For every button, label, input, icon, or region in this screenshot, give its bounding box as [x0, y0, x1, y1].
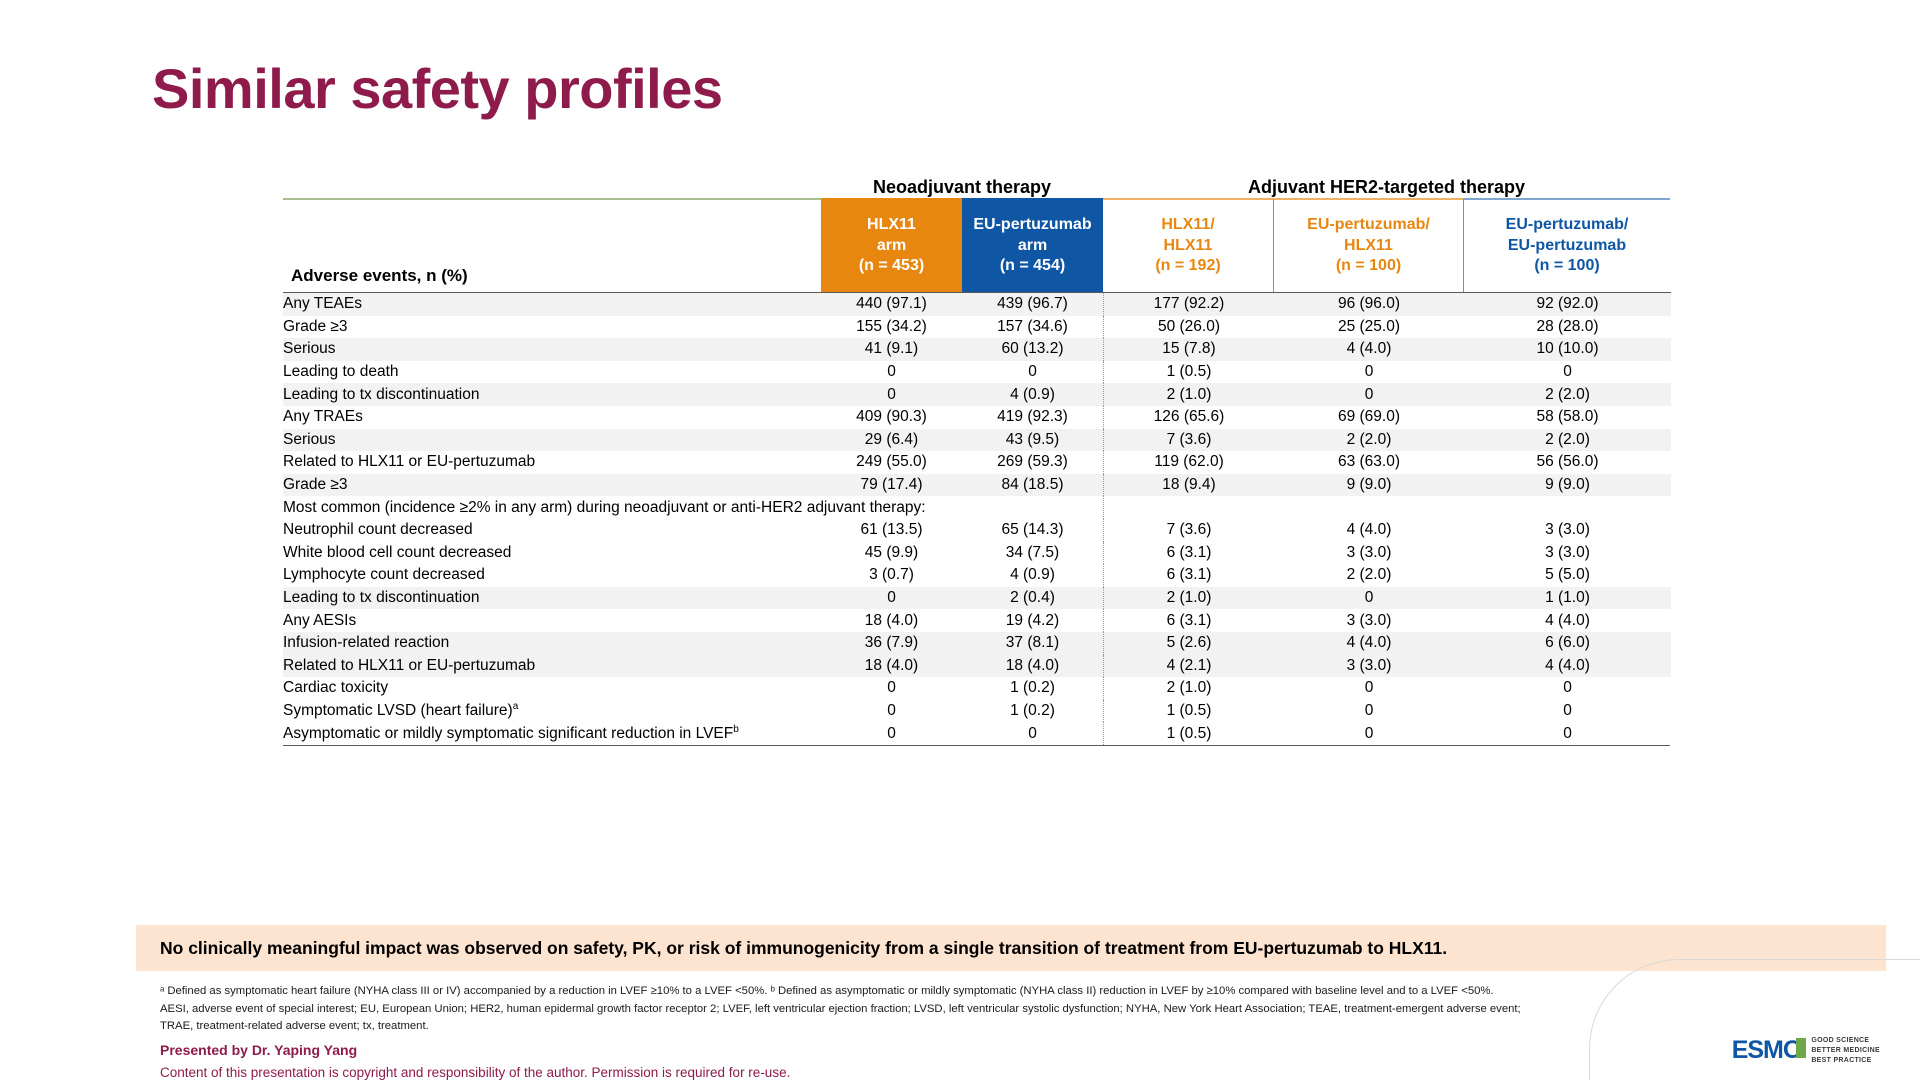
- table-row: Leading to tx discontinuation04 (0.9)2 (…: [283, 383, 1671, 406]
- table-column-header-row: Adverse events, n (%) HLX11 arm (n = 453…: [283, 198, 1670, 292]
- row-label: Leading to death: [283, 361, 821, 384]
- row-value: 439 (96.7): [962, 293, 1104, 316]
- column-header-eu-pertuzumab-eu-pertuzumab: EU-pertuzumab/ EU-pertuzumab (n = 100): [1463, 198, 1670, 292]
- row-value: 119 (62.0): [1104, 451, 1275, 474]
- row-value: 0: [1274, 587, 1464, 610]
- row-label: Leading to tx discontinuation: [283, 587, 821, 610]
- footnotes: ᵃ Defined as symptomatic heart failure (…: [160, 983, 1880, 1036]
- row-value: 15 (7.8): [1104, 338, 1275, 361]
- row-value: [962, 496, 1104, 519]
- row-value: 157 (34.6): [962, 316, 1104, 339]
- row-label: Asymptomatic or mildly symptomatic signi…: [283, 722, 821, 745]
- row-value: 6 (3.1): [1104, 542, 1275, 565]
- row-label: Any TRAEs: [283, 406, 821, 429]
- row-value: [1104, 496, 1275, 519]
- row-value: [1464, 496, 1671, 519]
- row-value: 45 (9.9): [821, 542, 962, 565]
- row-value: 0: [821, 722, 962, 745]
- row-value: 0: [1274, 383, 1464, 406]
- row-value: 2 (1.0): [1104, 587, 1275, 610]
- column-header-n: (n = 454): [1000, 256, 1065, 276]
- row-value: 0: [962, 722, 1104, 745]
- row-value: 19 (4.2): [962, 609, 1104, 632]
- row-value: 0: [821, 700, 962, 723]
- copyright-notice: Content of this presentation is copyrigh…: [160, 1065, 790, 1080]
- row-value: 3 (3.0): [1274, 655, 1464, 678]
- table-row: Any TRAEs409 (90.3)419 (92.3)126 (65.6)6…: [283, 406, 1671, 429]
- table-row: Grade ≥379 (17.4)84 (18.5)18 (9.4)9 (9.0…: [283, 474, 1671, 497]
- row-value: 0: [1274, 700, 1464, 723]
- row-value: 4 (4.0): [1274, 519, 1464, 542]
- row-value: 0: [1464, 677, 1671, 700]
- column-header-n: (n = 100): [1534, 256, 1599, 276]
- row-value: 18 (4.0): [962, 655, 1104, 678]
- column-header-line1: EU-pertuzumab/: [1506, 215, 1629, 235]
- row-value: 2 (2.0): [1464, 429, 1671, 452]
- row-value: 37 (8.1): [962, 632, 1104, 655]
- row-value: 3 (3.0): [1274, 609, 1464, 632]
- table-row: Serious29 (6.4)43 (9.5)7 (3.6)2 (2.0)2 (…: [283, 429, 1671, 452]
- column-header-line1: HLX11/: [1161, 215, 1214, 235]
- row-value: 4 (0.9): [962, 564, 1104, 587]
- row-value: 4 (4.0): [1274, 338, 1464, 361]
- row-value: 1 (0.5): [1104, 700, 1275, 723]
- row-value: 3 (3.0): [1274, 542, 1464, 565]
- row-label: Related to HLX11 or EU-pertuzumab: [283, 655, 821, 678]
- row-value: 0: [1464, 722, 1671, 745]
- column-header-line2: EU-pertuzumab: [1508, 236, 1626, 256]
- table-row: Serious41 (9.1)60 (13.2)15 (7.8)4 (4.0)1…: [283, 338, 1671, 361]
- row-label: Serious: [283, 338, 821, 361]
- row-value: 10 (10.0): [1464, 338, 1671, 361]
- table-row: Related to HLX11 or EU-pertuzumab18 (4.0…: [283, 655, 1671, 678]
- safety-data-table: Any TEAEs440 (97.1)439 (96.7)177 (92.2)9…: [283, 292, 1671, 745]
- row-value: 0: [821, 587, 962, 610]
- row-value: 63 (63.0): [1274, 451, 1464, 474]
- esmo-logo: ESMO GOOD SCIENCE BETTER MEDICINE BEST P…: [1732, 1036, 1880, 1066]
- page-title: Similar safety profiles: [152, 56, 723, 121]
- adverse-events-label: Adverse events, n (%): [291, 266, 468, 286]
- row-value: [1274, 496, 1464, 519]
- table-group-header-row: Neoadjuvant therapy Adjuvant HER2-target…: [283, 172, 1670, 198]
- row-value: 0: [962, 361, 1104, 384]
- row-value: 2 (1.0): [1104, 383, 1275, 406]
- table-row: Grade ≥3155 (34.2)157 (34.6)50 (26.0)25 …: [283, 316, 1671, 339]
- row-value: 1 (0.2): [962, 700, 1104, 723]
- row-value: 0: [821, 383, 962, 406]
- presenter-credit: Presented by Dr. Yaping Yang: [160, 1042, 357, 1058]
- table-row: Leading to death001 (0.5)00: [283, 361, 1671, 384]
- row-value: 1 (0.2): [962, 677, 1104, 700]
- row-value: 3 (3.0): [1464, 542, 1671, 565]
- group-header-adjuvant: Adjuvant HER2-targeted therapy: [1103, 177, 1670, 198]
- column-header-n: (n = 100): [1336, 256, 1401, 276]
- column-header-line2: arm: [1018, 236, 1047, 256]
- row-value: 2 (2.0): [1274, 429, 1464, 452]
- row-value: 18 (4.0): [821, 655, 962, 678]
- row-value: 58 (58.0): [1464, 406, 1671, 429]
- row-value: 1 (1.0): [1464, 587, 1671, 610]
- row-label: Grade ≥3: [283, 474, 821, 497]
- row-value: 6 (3.1): [1104, 564, 1275, 587]
- row-label: Symptomatic LVSD (heart failure)a: [283, 700, 821, 723]
- tagline-line-1: GOOD SCIENCE: [1811, 1036, 1880, 1046]
- esmo-tagline: GOOD SCIENCE BETTER MEDICINE BEST PRACTI…: [1811, 1036, 1880, 1066]
- row-value: 0: [1274, 677, 1464, 700]
- row-value: 9 (9.0): [1274, 474, 1464, 497]
- row-value: 0: [1274, 361, 1464, 384]
- row-value: 0: [1464, 700, 1671, 723]
- column-header-line1: EU-pertuzumab: [973, 215, 1091, 235]
- row-value: 269 (59.3): [962, 451, 1104, 474]
- column-header-n: (n = 453): [859, 256, 924, 276]
- row-label: Leading to tx discontinuation: [283, 383, 821, 406]
- tagline-line-2: BETTER MEDICINE: [1811, 1046, 1880, 1056]
- table-row: Any TEAEs440 (97.1)439 (96.7)177 (92.2)9…: [283, 293, 1671, 316]
- conclusion-banner: No clinically meaningful impact was obse…: [136, 925, 1886, 971]
- column-header-hlx11-arm: HLX11 arm (n = 453): [821, 198, 962, 292]
- row-value: 0: [821, 677, 962, 700]
- row-value: 34 (7.5): [962, 542, 1104, 565]
- table-row: Related to HLX11 or EU-pertuzumab249 (55…: [283, 451, 1671, 474]
- row-value: 249 (55.0): [821, 451, 962, 474]
- row-label: Grade ≥3: [283, 316, 821, 339]
- column-header-line2: arm: [877, 236, 906, 256]
- row-value: 69 (69.0): [1274, 406, 1464, 429]
- row-value: 440 (97.1): [821, 293, 962, 316]
- row-value: 3 (3.0): [1464, 519, 1671, 542]
- table-row: Asymptomatic or mildly symptomatic signi…: [283, 722, 1671, 745]
- table-row: Symptomatic LVSD (heart failure)a01 (0.2…: [283, 700, 1671, 723]
- column-header-line1: HLX11: [867, 215, 916, 235]
- table-row: Lymphocyte count decreased3 (0.7)4 (0.9)…: [283, 564, 1671, 587]
- row-value: 1 (0.5): [1104, 722, 1275, 745]
- table-row: Neutrophil count decreased61 (13.5)65 (1…: [283, 519, 1671, 542]
- footnote-abbreviations-1: AESI, adverse event of special interest;…: [160, 1001, 1880, 1019]
- row-value: 29 (6.4): [821, 429, 962, 452]
- table-row: Cardiac toxicity01 (0.2)2 (1.0)00: [283, 677, 1671, 700]
- safety-table-body: Any TEAEs440 (97.1)439 (96.7)177 (92.2)9…: [283, 293, 1671, 745]
- row-value: 126 (65.6): [1104, 406, 1275, 429]
- conclusion-text: No clinically meaningful impact was obse…: [136, 938, 1447, 959]
- row-value: 1 (0.5): [1104, 361, 1275, 384]
- footnote-definitions: ᵃ Defined as symptomatic heart failure (…: [160, 983, 1880, 1001]
- esmo-wordmark: ESMO: [1732, 1036, 1805, 1065]
- footnote-marker: b: [733, 724, 739, 735]
- row-value: 61 (13.5): [821, 519, 962, 542]
- row-value: 4 (0.9): [962, 383, 1104, 406]
- table-row: Infusion-related reaction36 (7.9)37 (8.1…: [283, 632, 1671, 655]
- row-value: 43 (9.5): [962, 429, 1104, 452]
- row-value: 4 (4.0): [1464, 655, 1671, 678]
- row-value: 79 (17.4): [821, 474, 962, 497]
- column-header-eu-pertuzumab-hlx11: EU-pertuzumab/ HLX11 (n = 100): [1273, 198, 1463, 292]
- row-value: 50 (26.0): [1104, 316, 1275, 339]
- row-value: 25 (25.0): [1274, 316, 1464, 339]
- row-value: 18 (4.0): [821, 609, 962, 632]
- column-header-n: (n = 192): [1155, 256, 1220, 276]
- row-label: Any AESIs: [283, 609, 821, 632]
- column-header-eu-pertuzumab-arm: EU-pertuzumab arm (n = 454): [962, 198, 1103, 292]
- row-label: White blood cell count decreased: [283, 542, 821, 565]
- row-label: Infusion-related reaction: [283, 632, 821, 655]
- column-header-line2: HLX11: [1344, 236, 1393, 256]
- row-label: Neutrophil count decreased: [283, 519, 821, 542]
- row-label: Related to HLX11 or EU-pertuzumab: [283, 451, 821, 474]
- row-value: 6 (3.1): [1104, 609, 1275, 632]
- row-value: 0: [1274, 722, 1464, 745]
- row-value: 409 (90.3): [821, 406, 962, 429]
- row-value: 9 (9.0): [1464, 474, 1671, 497]
- row-value: 7 (3.6): [1104, 519, 1275, 542]
- row-value: 6 (6.0): [1464, 632, 1671, 655]
- row-value: 2 (1.0): [1104, 677, 1275, 700]
- row-label: Lymphocyte count decreased: [283, 564, 821, 587]
- row-value: 56 (56.0): [1464, 451, 1671, 474]
- row-value: 3 (0.7): [821, 564, 962, 587]
- row-value: 36 (7.9): [821, 632, 962, 655]
- column-header-line2: HLX11: [1164, 236, 1213, 256]
- row-value: 84 (18.5): [962, 474, 1104, 497]
- row-label: Most common (incidence ≥2% in any arm) d…: [283, 496, 821, 519]
- row-value: 5 (5.0): [1464, 564, 1671, 587]
- row-value: 18 (9.4): [1104, 474, 1275, 497]
- row-value: 0: [821, 361, 962, 384]
- row-value: 4 (4.0): [1274, 632, 1464, 655]
- row-value: 4 (2.1): [1104, 655, 1275, 678]
- row-label: Serious: [283, 429, 821, 452]
- table-row: Leading to tx discontinuation02 (0.4)2 (…: [283, 587, 1671, 610]
- table-row: Any AESIs18 (4.0)19 (4.2)6 (3.1)3 (3.0)4…: [283, 609, 1671, 632]
- row-label: Any TEAEs: [283, 293, 821, 316]
- row-value: 41 (9.1): [821, 338, 962, 361]
- row-value: 2 (0.4): [962, 587, 1104, 610]
- row-value: 155 (34.2): [821, 316, 962, 339]
- row-value: 28 (28.0): [1464, 316, 1671, 339]
- row-value: 2 (2.0): [1464, 383, 1671, 406]
- column-header-line1: EU-pertuzumab/: [1307, 215, 1430, 235]
- footnote-abbreviations-2: TRAE, treatment-related adverse event; t…: [160, 1018, 1880, 1036]
- row-value: 177 (92.2): [1104, 293, 1275, 316]
- row-value: 4 (4.0): [1464, 609, 1671, 632]
- row-label: Cardiac toxicity: [283, 677, 821, 700]
- tagline-line-3: BEST PRACTICE: [1811, 1056, 1880, 1066]
- row-value: 0: [1464, 361, 1671, 384]
- row-value: 96 (96.0): [1274, 293, 1464, 316]
- table-row: White blood cell count decreased45 (9.9)…: [283, 542, 1671, 565]
- safety-table: Neoadjuvant therapy Adjuvant HER2-target…: [283, 172, 1670, 746]
- row-value: 5 (2.6): [1104, 632, 1275, 655]
- group-header-neoadjuvant: Neoadjuvant therapy: [821, 177, 1103, 198]
- footnote-marker: a: [513, 701, 519, 712]
- table-bottom-rule: [283, 745, 1670, 746]
- stub-header-cell: Adverse events, n (%): [283, 198, 821, 292]
- row-value: 2 (2.0): [1274, 564, 1464, 587]
- row-value: 92 (92.0): [1464, 293, 1671, 316]
- column-header-hlx11-hlx11: HLX11/ HLX11 (n = 192): [1103, 198, 1273, 292]
- row-value: 7 (3.6): [1104, 429, 1275, 452]
- row-value: 60 (13.2): [962, 338, 1104, 361]
- row-value: 65 (14.3): [962, 519, 1104, 542]
- table-row: Most common (incidence ≥2% in any arm) d…: [283, 496, 1671, 519]
- row-value: 419 (92.3): [962, 406, 1104, 429]
